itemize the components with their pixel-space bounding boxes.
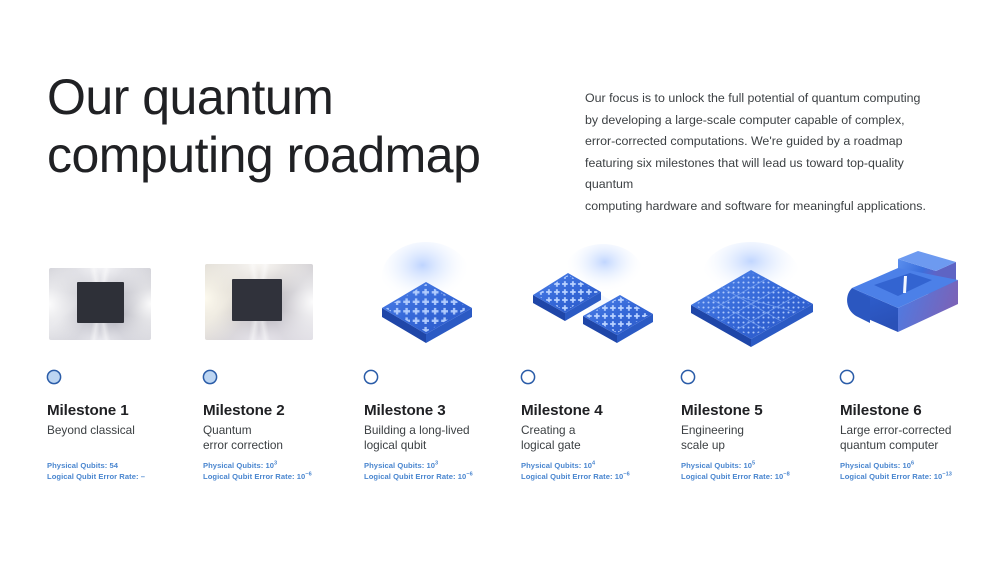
milestone-desc-line: Quantum bbox=[203, 423, 353, 438]
milestone-column-4[interactable]: Milestone 4 Creating a logical gate Phys… bbox=[521, 240, 671, 358]
physical-qubits-exponent: 3 bbox=[274, 460, 277, 466]
error-rate-spec: Logical Qubit Error Rate: 10−6 bbox=[203, 471, 363, 482]
page-title-line-2: computing roadmap bbox=[47, 126, 567, 184]
milestone-desc-line: scale up bbox=[681, 438, 831, 453]
milestone-5-graphic bbox=[681, 240, 831, 358]
physical-qubits-value: 10 bbox=[743, 461, 752, 470]
physical-qubits-spec: Physical Qubits: 106 bbox=[840, 460, 1000, 471]
milestone-6-title: Milestone 6 bbox=[840, 401, 922, 420]
milestone-5-title: Milestone 5 bbox=[681, 401, 763, 420]
intro-line: computing hardware and software for mean… bbox=[585, 196, 945, 218]
milestone-3-specs: Physical Qubits: 103 Logical Qubit Error… bbox=[364, 460, 524, 482]
physical-qubits-exponent: 6 bbox=[911, 460, 914, 466]
physical-qubits-label: Physical Qubits: bbox=[364, 461, 424, 470]
error-rate-label: Logical Qubit Error Rate: bbox=[203, 472, 295, 481]
error-rate-label: Logical Qubit Error Rate: bbox=[521, 472, 613, 481]
milestone-desc-line: error correction bbox=[203, 438, 353, 453]
milestone-timeline: Milestone 1 Beyond classical Physical Qu… bbox=[0, 240, 1000, 500]
milestone-5-specs: Physical Qubits: 105 Logical Qubit Error… bbox=[681, 460, 841, 482]
error-rate-exponent: −6 bbox=[466, 471, 472, 477]
timeline-marker-5[interactable] bbox=[681, 370, 694, 383]
milestone-column-2[interactable]: Milestone 2 Quantum error correction Phy… bbox=[203, 240, 353, 358]
milestone-2-specs: Physical Qubits: 103 Logical Qubit Error… bbox=[203, 460, 363, 482]
milestone-6-graphic bbox=[840, 240, 990, 358]
physical-qubits-label: Physical Qubits: bbox=[521, 461, 581, 470]
milestone-desc-line: Creating a bbox=[521, 423, 671, 438]
milestone-desc-line: Building a long-lived bbox=[364, 423, 514, 438]
milestone-1-specs: Physical Qubits: 54 Logical Qubit Error … bbox=[47, 460, 207, 482]
error-rate-value: 10 bbox=[934, 472, 943, 481]
physical-qubits-spec: Physical Qubits: 54 bbox=[47, 460, 207, 471]
intro-paragraph: Our focus is to unlock the full potentia… bbox=[585, 88, 945, 217]
milestone-4-graphic bbox=[521, 240, 671, 358]
physical-qubits-label: Physical Qubits: bbox=[840, 461, 900, 470]
milestone-4-title: Milestone 4 bbox=[521, 401, 603, 420]
logical-qubit-slab-icon bbox=[364, 240, 514, 358]
error-rate-label: Logical Qubit Error Rate: bbox=[364, 472, 456, 481]
milestone-column-3[interactable]: Milestone 3 Building a long-lived logica… bbox=[364, 240, 514, 358]
error-rate-value: – bbox=[141, 472, 145, 481]
milestone-desc-line: Large error-corrected bbox=[840, 423, 990, 438]
physical-qubits-value: 10 bbox=[583, 461, 592, 470]
quantum-chip-photo-icon bbox=[205, 264, 313, 340]
page-title: Our quantum computing roadmap bbox=[47, 68, 567, 184]
milestone-1-graphic bbox=[47, 240, 197, 358]
physical-qubits-label: Physical Qubits: bbox=[47, 461, 107, 470]
physical-qubits-value: 10 bbox=[265, 461, 274, 470]
milestone-desc-line: logical gate bbox=[521, 438, 671, 453]
milestone-3-graphic bbox=[364, 240, 514, 358]
page-title-line-1: Our quantum bbox=[47, 68, 567, 126]
physical-qubits-value: 54 bbox=[109, 461, 118, 470]
physical-qubits-spec: Physical Qubits: 103 bbox=[364, 460, 524, 471]
physical-qubits-label: Physical Qubits: bbox=[681, 461, 741, 470]
timeline-marker-3[interactable] bbox=[364, 370, 377, 383]
intro-line: by developing a large-scale computer cap… bbox=[585, 110, 945, 132]
milestone-4-description: Creating a logical gate bbox=[521, 423, 671, 452]
milestone-6-specs: Physical Qubits: 106 Logical Qubit Error… bbox=[840, 460, 1000, 482]
milestone-desc-line: quantum computer bbox=[840, 438, 990, 453]
physical-qubits-exponent: 3 bbox=[435, 460, 438, 466]
physical-qubits-value: 10 bbox=[902, 461, 911, 470]
milestone-desc-line: logical qubit bbox=[364, 438, 514, 453]
error-rate-label: Logical Qubit Error Rate: bbox=[840, 472, 932, 481]
error-rate-label: Logical Qubit Error Rate: bbox=[681, 472, 773, 481]
milestone-column-1[interactable]: Milestone 1 Beyond classical Physical Qu… bbox=[47, 240, 197, 358]
error-rate-value: 10 bbox=[297, 472, 306, 481]
physical-qubits-spec: Physical Qubits: 104 bbox=[521, 460, 681, 471]
error-rate-exponent: −6 bbox=[623, 471, 629, 477]
error-rate-spec: Logical Qubit Error Rate: 10−8 bbox=[681, 471, 841, 482]
milestone-2-description: Quantum error correction bbox=[203, 423, 353, 452]
milestone-4-specs: Physical Qubits: 104 Logical Qubit Error… bbox=[521, 460, 681, 482]
physical-qubits-label: Physical Qubits: bbox=[203, 461, 263, 470]
scale-up-tiled-slab-icon bbox=[681, 240, 831, 358]
error-rate-spec: Logical Qubit Error Rate: 10−13 bbox=[840, 471, 1000, 482]
error-rate-spec: Logical Qubit Error Rate: 10−6 bbox=[364, 471, 524, 482]
milestone-6-description: Large error-corrected quantum computer bbox=[840, 423, 990, 452]
intro-line: Our focus is to unlock the full potentia… bbox=[585, 88, 945, 110]
logical-gate-slabs-icon bbox=[521, 240, 671, 358]
milestone-3-title: Milestone 3 bbox=[364, 401, 446, 420]
milestone-2-title: Milestone 2 bbox=[203, 401, 285, 420]
error-rate-value: 10 bbox=[615, 472, 624, 481]
error-rate-spec: Logical Qubit Error Rate: 10−6 bbox=[521, 471, 681, 482]
quantum-computer-cryostat-icon bbox=[840, 240, 990, 358]
error-rate-value: 10 bbox=[775, 472, 784, 481]
physical-qubits-value: 10 bbox=[426, 461, 435, 470]
intro-line: featuring six milestones that will lead … bbox=[585, 153, 945, 196]
milestone-5-description: Engineering scale up bbox=[681, 423, 831, 452]
error-rate-exponent: −13 bbox=[942, 471, 952, 477]
error-rate-exponent: −6 bbox=[305, 471, 311, 477]
error-rate-spec: Logical Qubit Error Rate: – bbox=[47, 471, 207, 482]
error-rate-label: Logical Qubit Error Rate: bbox=[47, 472, 139, 481]
chip-die bbox=[77, 282, 124, 323]
chip-die bbox=[232, 279, 282, 321]
milestone-2-graphic bbox=[203, 240, 353, 358]
error-rate-value: 10 bbox=[458, 472, 467, 481]
timeline-marker-4[interactable] bbox=[521, 370, 534, 383]
milestone-desc-line: Engineering bbox=[681, 423, 831, 438]
intro-line: error-corrected computations. We're guid… bbox=[585, 131, 945, 153]
milestone-1-description: Beyond classical bbox=[47, 423, 197, 438]
physical-qubits-exponent: 4 bbox=[592, 460, 595, 466]
timeline-marker-1[interactable] bbox=[47, 370, 60, 383]
milestone-column-6[interactable]: Milestone 6 Large error-corrected quantu… bbox=[840, 240, 990, 358]
milestone-3-description: Building a long-lived logical qubit bbox=[364, 423, 514, 452]
quantum-chip-photo-icon bbox=[49, 268, 151, 340]
roadmap-infographic: Our quantum computing roadmap Our focus … bbox=[0, 0, 1000, 562]
milestone-desc-line: Beyond classical bbox=[47, 423, 197, 438]
timeline-marker-2[interactable] bbox=[203, 370, 216, 383]
timeline-marker-6[interactable] bbox=[840, 370, 853, 383]
physical-qubits-exponent: 5 bbox=[752, 460, 755, 466]
milestone-1-title: Milestone 1 bbox=[47, 401, 129, 420]
error-rate-exponent: −8 bbox=[783, 471, 789, 477]
milestone-column-5[interactable]: Milestone 5 Engineering scale up Physica… bbox=[681, 240, 831, 358]
physical-qubits-spec: Physical Qubits: 103 bbox=[203, 460, 363, 471]
physical-qubits-spec: Physical Qubits: 105 bbox=[681, 460, 841, 471]
